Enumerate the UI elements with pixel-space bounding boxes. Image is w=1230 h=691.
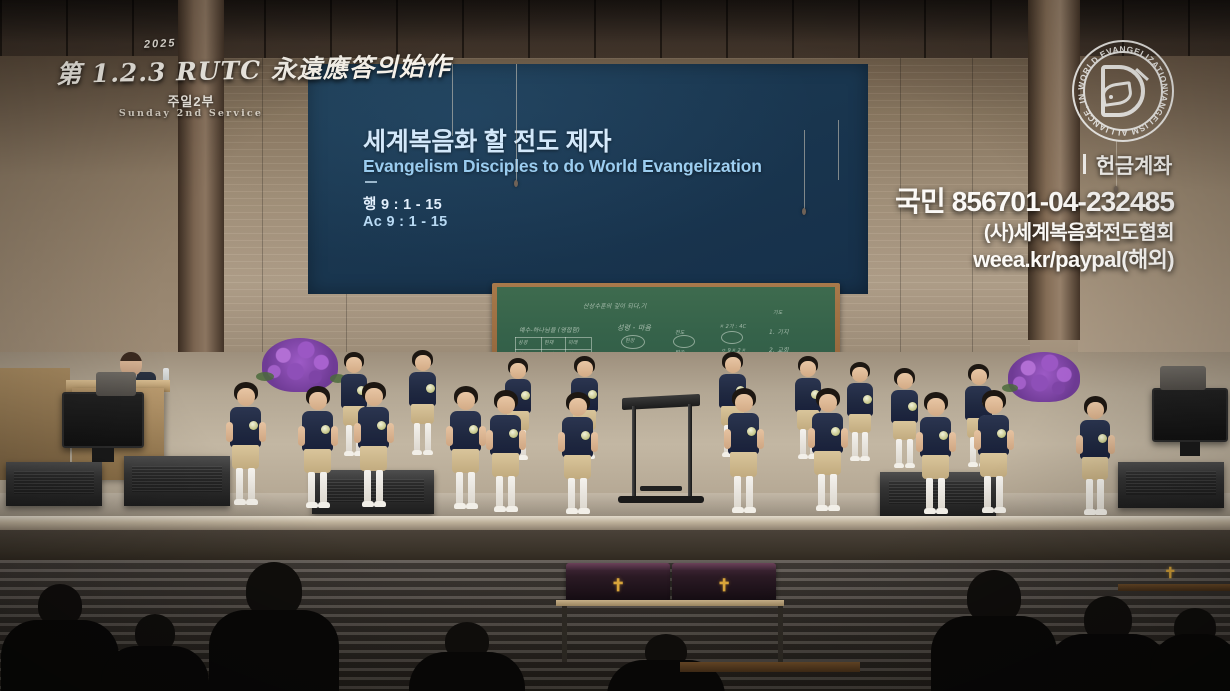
offering-box-rim	[566, 563, 670, 570]
hanging-mic-cable	[804, 130, 805, 210]
choir-child	[352, 382, 394, 514]
audience-member	[208, 562, 340, 691]
cross-icon: ✝	[611, 577, 625, 594]
audience-member	[930, 570, 1058, 691]
slide-title-english: Evangelism Disciples to do World Evangel…	[363, 156, 843, 177]
hanging-mic	[802, 208, 806, 215]
wood-column-left	[178, 0, 224, 370]
stage-monitor-right	[1152, 388, 1228, 442]
offering-table-leg	[562, 606, 567, 662]
pew-rail	[680, 662, 860, 672]
floor-monitor-speaker	[6, 462, 102, 506]
wall-seam	[262, 58, 263, 358]
wall-seam	[972, 58, 973, 358]
offering-box-rim	[672, 563, 776, 570]
choir-child	[296, 386, 338, 514]
offering-box: ✝	[566, 563, 670, 601]
choir-child	[484, 390, 526, 518]
floor-monitor-speaker	[1118, 462, 1224, 508]
slide-title-korean: 세계복음화 할 전도 제자	[363, 122, 833, 158]
stage-edge	[0, 516, 1230, 530]
hanging-mic-cable	[1116, 140, 1117, 188]
choir-child	[806, 388, 848, 518]
offering-table	[556, 600, 784, 606]
flower-arrangement-right	[1008, 352, 1080, 402]
pew-rail	[1118, 584, 1230, 591]
cross-icon: ✝	[717, 577, 731, 594]
slide-scripture-korean: 행 9 : 1 - 15	[363, 193, 442, 214]
wood-column-right	[1028, 0, 1080, 340]
audience-member	[1150, 620, 1230, 691]
slide-divider	[365, 181, 377, 183]
audience-member	[100, 636, 210, 691]
slide-scripture-english: Ac 9 : 1 - 15	[363, 214, 448, 230]
floor-monitor-speaker	[124, 456, 230, 506]
hanging-mic-cable	[452, 64, 453, 136]
wall-panel-right	[1078, 56, 1230, 356]
offering-box: ✝	[672, 563, 776, 601]
hanging-mic-cable	[516, 64, 517, 182]
choir-child	[914, 392, 956, 520]
monitor-stand	[92, 448, 114, 462]
choir-child	[224, 382, 266, 512]
equipment-rack-right	[1160, 366, 1206, 390]
choir-child	[972, 390, 1014, 520]
choir-child	[1074, 396, 1114, 522]
audience-member	[408, 640, 526, 691]
stage-monitor-left	[62, 392, 144, 448]
flower-arrangement-left	[262, 338, 338, 392]
monitor-stand	[1180, 442, 1200, 456]
broadcast-frame: 세계복음화 할 전도 제자 Evangelism Disciples to do…	[0, 0, 1230, 691]
equipment-rack-left	[96, 372, 136, 396]
choir-child	[444, 386, 486, 516]
music-stand-brace	[640, 486, 682, 491]
hanging-mic	[1114, 186, 1118, 193]
wall-seam	[900, 58, 901, 358]
music-stand-pole	[632, 406, 636, 498]
music-stand-base	[618, 496, 704, 503]
music-stand-pole	[688, 404, 692, 498]
choir-child	[722, 388, 764, 520]
offering-table-leg	[778, 606, 783, 662]
hanging-mic	[514, 180, 518, 187]
cross-icon: ✝	[1164, 566, 1177, 581]
foliage	[256, 372, 274, 381]
choir-child	[556, 392, 598, 520]
choir-child	[404, 350, 440, 462]
projection-panel: 세계복음화 할 전도 제자 Evangelism Disciples to do…	[308, 64, 868, 294]
wall-panel-left	[0, 56, 180, 356]
hanging-mic-cable	[838, 120, 839, 180]
